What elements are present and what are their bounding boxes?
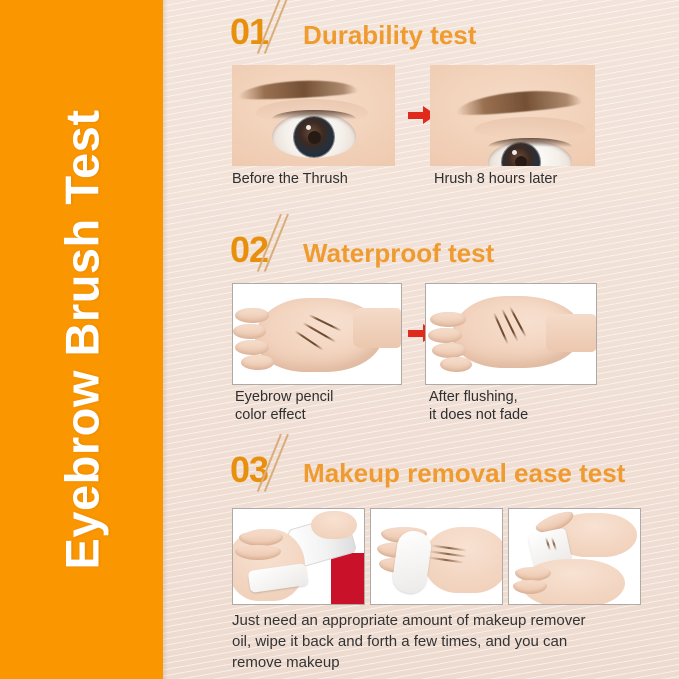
photo-hand-after xyxy=(425,283,597,385)
slash-divider-icon xyxy=(271,222,301,268)
caption-hand-after: After flushing, it does not fade xyxy=(429,388,604,424)
section-03-number: 03 xyxy=(230,452,268,488)
caption-eye-before: Before the Thrush xyxy=(232,170,397,188)
infographic-page: Eyebrow Brush Test 01 Durability test xyxy=(0,0,679,679)
section-02-title: Waterproof test xyxy=(303,238,494,268)
photo-eye-after xyxy=(430,65,595,166)
photo-step-wipe-hand xyxy=(370,508,503,605)
photo-step-pad-result xyxy=(508,508,641,605)
section-02-number: 02 xyxy=(230,232,268,268)
section-02-heading: 02 Waterproof test xyxy=(230,224,494,268)
slash-divider-icon xyxy=(271,442,301,488)
caption-hand-before: Eyebrow pencil color effect xyxy=(235,388,405,424)
slash-divider-icon xyxy=(271,4,301,50)
section-03-heading: 03 Makeup removal ease test xyxy=(230,444,625,488)
photo-step-pour-remover xyxy=(232,508,365,605)
section-03-title: Makeup removal ease test xyxy=(303,458,625,488)
page-title: Eyebrow Brush Test xyxy=(54,110,109,570)
section-01-number: 01 xyxy=(230,14,268,50)
content-column: 01 Durability test Before the Thrush xyxy=(163,0,679,679)
photo-eye-before xyxy=(232,65,395,166)
section-03-body-text: Just need an appropriate amount of makeu… xyxy=(232,610,679,673)
vertical-title-band: Eyebrow Brush Test xyxy=(0,0,163,679)
photo-hand-before xyxy=(232,283,402,385)
caption-eye-after: Hrush 8 hours later xyxy=(434,170,604,188)
section-01-title: Durability test xyxy=(303,20,476,50)
section-01-heading: 01 Durability test xyxy=(230,6,476,50)
